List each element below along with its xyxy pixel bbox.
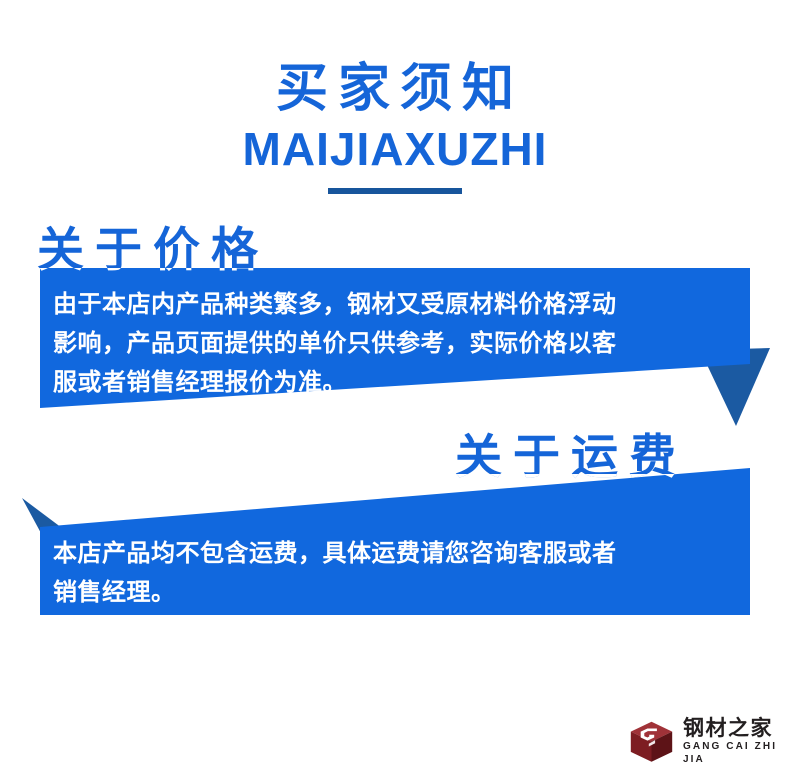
buyer-notice-page: 买家须知 MAIJIAXUZHI 关于价格 关于价格 由于本店内产品种类繁多，钢… [0, 0, 790, 772]
section-about-shipping: 关于运费 关于运费 本店产品均不包含运费，具体运费请您咨询客服或者 销售经理。 [0, 440, 790, 655]
price-text-line: 影响，产品页面提供的单价只供参考，实际价格以客 [53, 324, 743, 363]
price-text-line: 由于本店内产品种类繁多，钢材又受原材料价格浮动 [53, 285, 743, 324]
price-text-line: 服或者销售经理报价为准。 [53, 363, 743, 402]
section-about-price: 关于价格 关于价格 由于本店内产品种类繁多，钢材又受原材料价格浮动 影响，产品页… [0, 248, 790, 448]
page-title-en: MAIJIAXUZHI [0, 122, 790, 176]
shipping-text-line: 本店产品均不包含运费，具体运费请您咨询客服或者 [53, 534, 743, 573]
brand-logo: 钢材之家 GANG CAI ZHI JIA [629, 716, 785, 766]
page-title-cn: 买家须知 [0, 58, 790, 120]
brand-name-cn: 钢材之家 [683, 717, 785, 740]
cube-g-icon [629, 719, 674, 764]
page-header: 买家须知 MAIJIAXUZHI [0, 58, 790, 194]
title-divider [328, 188, 462, 194]
heading-about-price: 关于价格 关于价格 [37, 222, 357, 278]
heading-about-shipping: 关于运费 关于运费 [455, 429, 775, 485]
price-panel-text: 由于本店内产品种类繁多，钢材又受原材料价格浮动 影响，产品页面提供的单价只供参考… [53, 285, 743, 402]
brand-name-en: GANG CAI ZHI JIA [683, 740, 785, 766]
shipping-text-line: 销售经理。 [53, 573, 743, 612]
shipping-panel-text: 本店产品均不包含运费，具体运费请您咨询客服或者 销售经理。 [53, 534, 743, 612]
brand-logo-text: 钢材之家 GANG CAI ZHI JIA [683, 717, 785, 766]
